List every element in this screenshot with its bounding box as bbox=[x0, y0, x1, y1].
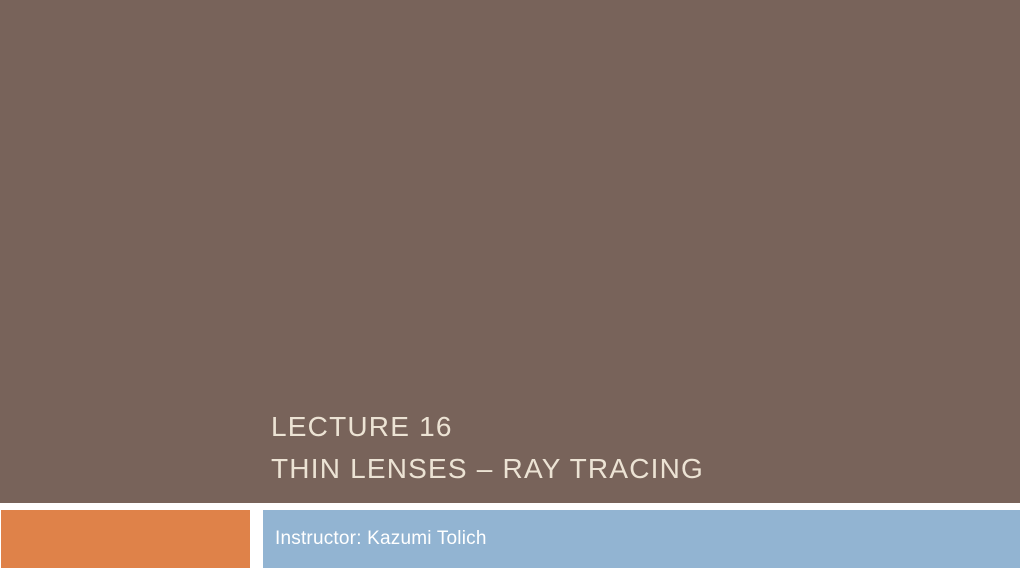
slide-title: Lecture 16 Thin lenses – ray tracing bbox=[271, 406, 971, 490]
instructor-label: Instructor: Kazumi Tolich bbox=[275, 510, 487, 568]
title-line-2: Thin lenses – ray tracing bbox=[271, 448, 971, 490]
title-line-1: Lecture 16 bbox=[271, 406, 971, 448]
presentation-slide: Lecture 16 Thin lenses – ray tracing Ins… bbox=[0, 0, 1020, 573]
subtitle-bar: Instructor: Kazumi Tolich bbox=[263, 510, 1020, 568]
orange-accent-block bbox=[1, 510, 250, 568]
